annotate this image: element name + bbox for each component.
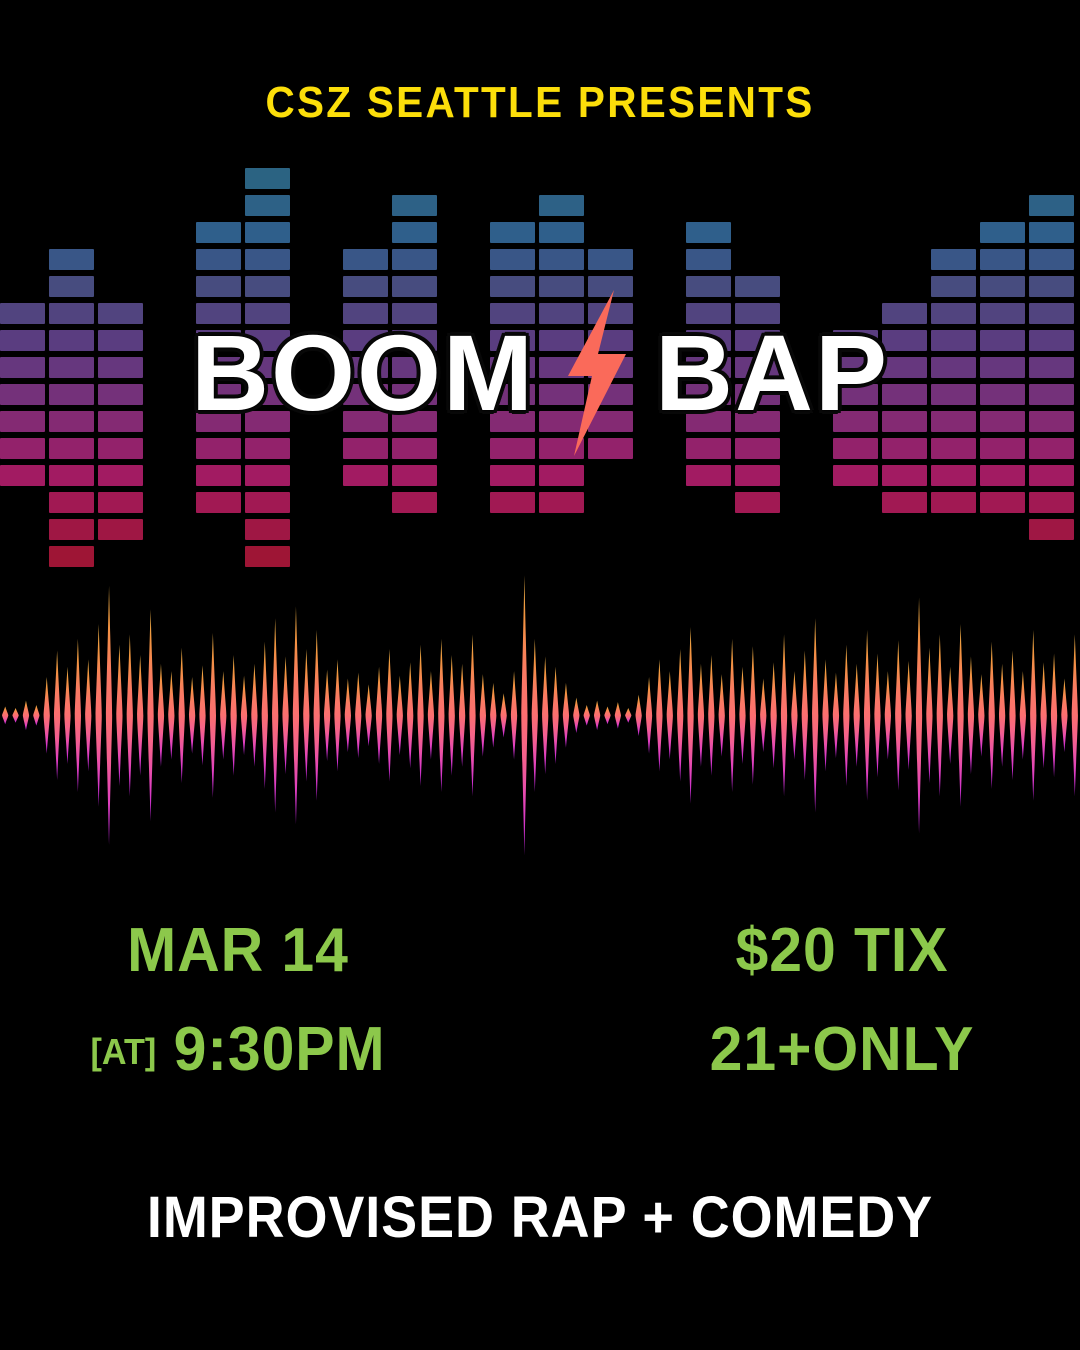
waveform-spike [417,645,423,786]
waveform-spike [1009,651,1015,781]
equalizer-segment [833,438,878,459]
waveform-spike [199,665,205,765]
waveform-spike [438,639,444,792]
equalizer-segment [245,465,290,486]
equalizer-segment [49,249,94,270]
equalizer-segment [1029,465,1074,486]
waveform-spike [397,676,403,756]
equalizer-segment [245,249,290,270]
equalizer-segment [490,438,535,459]
equalizer-segment [735,492,780,513]
equalizer-segment [882,492,927,513]
waveform-spike [926,648,932,784]
waveform-spike [760,679,766,753]
title-word-bap: BAP [655,319,889,427]
poster-canvas: CSZ SEATTLE PRESENTS BOOM BAP [0,0,1080,1350]
waveform-spike [843,645,849,786]
waveform-spike [282,656,288,774]
equalizer-segment [49,519,94,540]
equalizer-segment [245,222,290,243]
waveform-spike [708,655,714,776]
waveform-spike [957,624,963,807]
equalizer-segment [196,276,241,297]
waveform-spike [584,705,590,726]
waveform-spike [147,609,153,821]
waveform-spike [521,575,527,855]
waveform-spike [2,707,8,725]
equalizer-segment [686,465,731,486]
equalizer-segment [392,222,437,243]
waveform-spike [168,671,174,759]
equalizer-segment [49,438,94,459]
equalizer-segment [686,222,731,243]
equalizer-segment [539,249,584,270]
waveform-spike [241,676,247,756]
waveform-spike [1020,671,1026,759]
waveform-spike [231,655,237,776]
equalizer-segment [392,195,437,216]
waveform-spike [937,634,943,796]
waveform-spike [179,648,185,784]
equalizer-segment [735,276,780,297]
waveform-spike [12,708,18,723]
equalizer-segment [735,438,780,459]
waveform-spike [355,673,361,758]
equalizer-segment [343,438,388,459]
waveform-spike [719,674,725,757]
waveform-spike [698,664,704,767]
waveform-spike [490,683,496,748]
equalizer-segment [392,438,437,459]
equalizer-segment [245,276,290,297]
waveform-spike [501,693,507,737]
waveform-spike [636,695,642,736]
waveform-spike [511,671,517,759]
equalizer-segment [196,492,241,513]
equalizer-segment [245,519,290,540]
equalizer-segment [931,438,976,459]
waveform-spike [23,701,29,730]
equalizer-segment [343,465,388,486]
equalizer-segment [686,276,731,297]
waveform-spike [303,649,309,782]
waveform-spike [54,651,60,781]
waveform-spike [781,634,787,796]
equalizer-segment [196,438,241,459]
equalizer-segment [833,465,878,486]
equalizer-segment [245,546,290,567]
equalizer-segment [882,438,927,459]
equalizer-segment [588,249,633,270]
waveform-spike [428,671,434,759]
waveform-spike [85,659,91,771]
equalizer-segment [49,492,94,513]
waveform-spike [687,627,693,804]
waveform-spike [729,639,735,792]
waveform-spike [885,671,891,759]
waveform-spike [812,618,818,812]
equalizer-segment [392,249,437,270]
equalizer-segment [980,438,1025,459]
waveform-spike [96,624,102,807]
lightning-bolt-icon [535,288,655,458]
waveform-spike [210,633,216,798]
equalizer-segment [490,249,535,270]
waveform-spike [64,667,70,764]
equalizer-segment [1029,492,1074,513]
equalizer-segment [392,492,437,513]
waveform-spike [750,646,756,785]
waveform-spike [833,673,839,758]
waveform-spike [895,640,901,790]
equalizer-segment [490,222,535,243]
waveform-spike [449,655,455,776]
waveform-spike [916,597,922,833]
equalizer-segment [245,492,290,513]
equalizer-segment [98,492,143,513]
equalizer-segment [1029,222,1074,243]
waveform-spike [802,651,808,781]
waveform-spike [646,677,652,754]
equalizer-segment [980,465,1025,486]
equalizer-segment [392,465,437,486]
waveform-spike [376,667,382,764]
equalizer-segment [196,222,241,243]
equalizer-segment [98,519,143,540]
waveform-spike [625,708,631,723]
equalizer-segment [0,438,45,459]
waveform-graphic [0,565,1080,875]
waveform-spike [968,656,974,774]
waveform-spike [386,649,392,782]
waveform-spike [33,705,39,726]
tagline: IMPROVISED RAP + COMEDY [38,1184,1042,1251]
equalizer-segment [245,195,290,216]
waveform-spike [615,702,621,729]
waveform-spike [220,671,226,759]
waveform-spike [999,664,1005,767]
equalizer-segment [735,465,780,486]
equalizer-segment [49,276,94,297]
waveform-spike [116,645,122,786]
equalizer-segment [490,465,535,486]
waveform-spike [293,606,299,824]
equalizer-segment [196,249,241,270]
equalizer-segment [49,465,94,486]
presenter-line: CSZ SEATTLE PRESENTS [43,78,1037,128]
waveform-spike [158,664,164,767]
equalizer-segment [196,465,241,486]
waveform-spike [656,659,662,771]
waveform-spike [1051,653,1057,777]
equalizer-segment [539,222,584,243]
waveform-spike [334,659,340,771]
waveform-spike [1030,630,1036,801]
waveform-spike [251,664,257,767]
equalizer-segment [0,465,45,486]
equalizer-segment [980,249,1025,270]
waveform-spike [573,698,579,733]
waveform-spike [127,634,133,796]
waveform-spike [75,639,81,792]
waveform-spike [44,677,50,754]
waveform-spike [771,662,777,768]
equalizer-segment [343,249,388,270]
equalizer-segment [539,465,584,486]
waveform-spike [324,670,330,761]
waveform-spike [542,656,548,774]
waveform-spike [345,679,351,753]
waveform-spike [552,667,558,764]
waveform-spike [604,707,610,725]
waveform-spike [667,671,673,759]
equalizer-segment [686,438,731,459]
equalizer-segment [1029,276,1074,297]
waveform-spike [314,630,320,801]
equalizer-segment [1029,195,1074,216]
equalizer-segment [539,195,584,216]
equalizer-segment [98,465,143,486]
waveform-spike [1072,634,1078,796]
waveform-spike [459,664,465,767]
waveform-spike [480,674,486,757]
waveform-spike [366,684,372,746]
equalizer-segment [882,465,927,486]
waveform-spike [469,634,475,796]
equalizer-segment [931,492,976,513]
event-time-row: [AT] 9:30PM [39,1014,438,1085]
equalizer-segment [1029,249,1074,270]
waveform-spike [989,642,995,789]
equalizer-segment [490,492,535,513]
detail-column-right: $20 TIX 21+ONLY [632,915,1052,1085]
waveform-spike [874,653,880,777]
waveform-spike [106,586,112,845]
equalizer-segment [931,249,976,270]
waveform-spike [677,649,683,782]
equalizer-segment [980,222,1025,243]
detail-column-left: MAR 14 [AT] 9:30PM [28,915,448,1085]
waveform-spike [1041,662,1047,768]
equalizer-segment [686,249,731,270]
age-restriction: 21+ONLY [643,1014,1042,1085]
waveform-spike [262,642,268,789]
waveform-spike [137,655,143,776]
waveform-spike [822,659,828,771]
equalizer-segment [343,276,388,297]
waveform-spike [864,630,870,801]
waveform-spike [947,667,953,764]
waveform-spike [594,701,600,730]
equalizer-segment [931,276,976,297]
ticket-price: $20 TIX [643,915,1042,986]
waveform-spike [739,667,745,764]
event-date: MAR 14 [39,915,438,986]
waveform-spike [906,661,912,770]
waveform-spike [407,662,413,768]
main-title: BOOM BAP [0,318,1080,428]
equalizer-segment [980,492,1025,513]
waveform-spike [1061,679,1067,753]
waveform-spike [791,671,797,759]
waveform-spike [532,639,538,792]
equalizer-segment [980,276,1025,297]
equalizer-segment [98,438,143,459]
equalizer-segment [539,492,584,513]
waveform-spike [978,674,984,757]
equalizer-segment [245,438,290,459]
waveform-spike [854,664,860,767]
waveform-spike [189,677,195,754]
equalizer-segment [392,276,437,297]
event-time: 9:30PM [174,1015,386,1084]
title-word-boom: BOOM [191,319,535,427]
equalizer-segment [245,168,290,189]
equalizer-segment [1029,519,1074,540]
equalizer-segment [1029,438,1074,459]
equalizer-segment [490,276,535,297]
equalizer-segment [49,546,94,567]
waveform-spike [272,618,278,812]
waveform-spike [563,683,569,748]
equalizer-segment [931,465,976,486]
at-label: [AT] [90,1031,156,1072]
